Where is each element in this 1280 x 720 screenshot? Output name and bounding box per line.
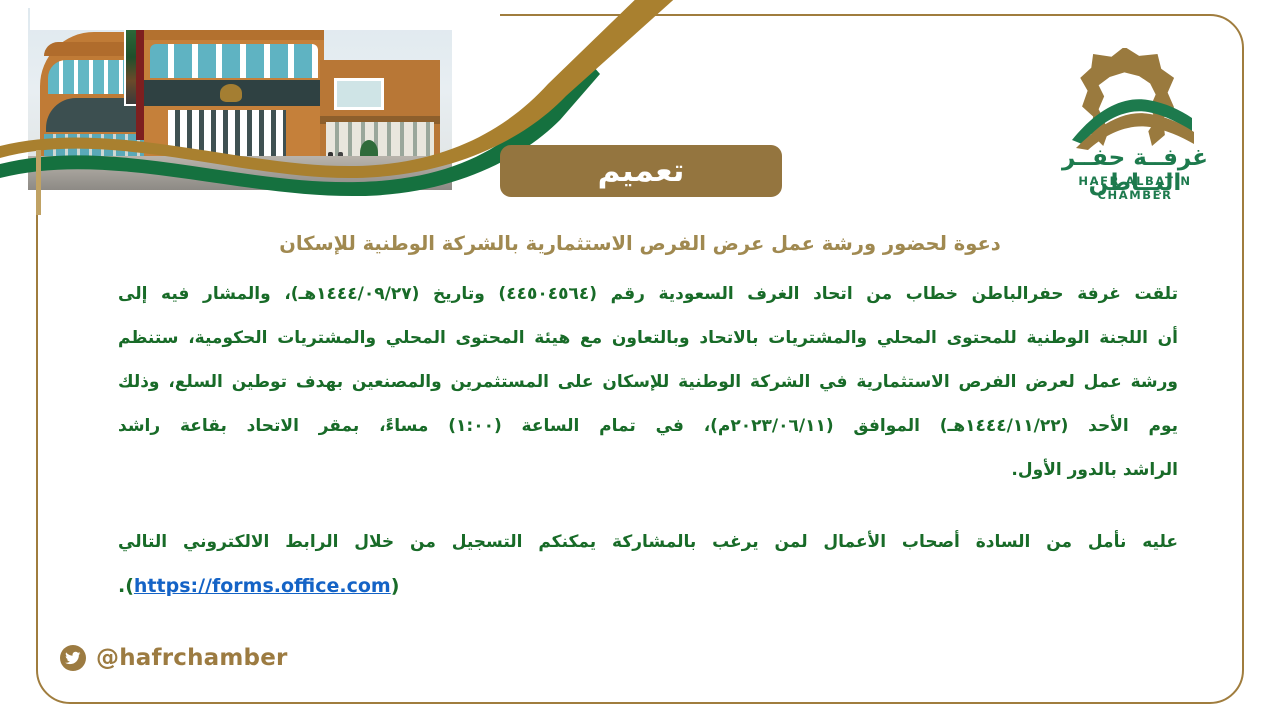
frame-mask [30, 0, 500, 30]
registration-link[interactable]: https://forms.office.com [134, 575, 391, 597]
chamber-logo: غرفــة حفــر البــاطن HAFR ALBATIN CHAMB… [1040, 48, 1230, 200]
gear-hills-logo-icon [1054, 48, 1204, 150]
circular-title-text: تعميم [598, 156, 685, 187]
body-line: يوم الأحد (١٤٤٤/١١/٢٢هـ) الموافق (٢٠٢٣/٠… [118, 404, 1178, 448]
body-line: تلقت غرفة حفرالباطن خطاب من اتحاد الغرف … [118, 272, 1178, 316]
paragraph-spacer [118, 492, 1178, 520]
registration-link-line: (https://forms.office.com). [118, 564, 1178, 609]
link-open-paren: ( [391, 575, 400, 597]
link-close-paren: ). [118, 575, 134, 597]
gold-vertical-accent [36, 150, 41, 215]
twitter-bird-icon[interactable] [60, 645, 86, 671]
social-footer: @hafrchamber [60, 645, 288, 671]
body-line: أن اللجنة الوطنية للمحتوى المحلي والمشتر… [118, 316, 1178, 360]
page-title: دعوة لحضور ورشة عمل عرض الفرص الاستثماري… [120, 232, 1160, 255]
circular-title-banner: تعميم [500, 145, 782, 197]
body-line: ورشة عمل لعرض الفرص الاستثمارية في الشرك… [118, 360, 1178, 404]
logo-english-name: HAFR ALBATIN CHAMBER [1040, 174, 1230, 202]
twitter-handle[interactable]: @hafrchamber [96, 645, 288, 671]
announcement-page: تعميم غرفــة حفــر البــاطن HAFR ALBATIN… [0, 0, 1280, 720]
announcement-body: تلقت غرفة حفرالباطن خطاب من اتحاد الغرف … [118, 272, 1178, 609]
gear-outline [1080, 48, 1174, 146]
body-line: الراشد بالدور الأول. [118, 448, 1178, 492]
body-paragraph-2: عليه نأمل من السادة أصحاب الأعمال لمن ير… [118, 520, 1178, 564]
